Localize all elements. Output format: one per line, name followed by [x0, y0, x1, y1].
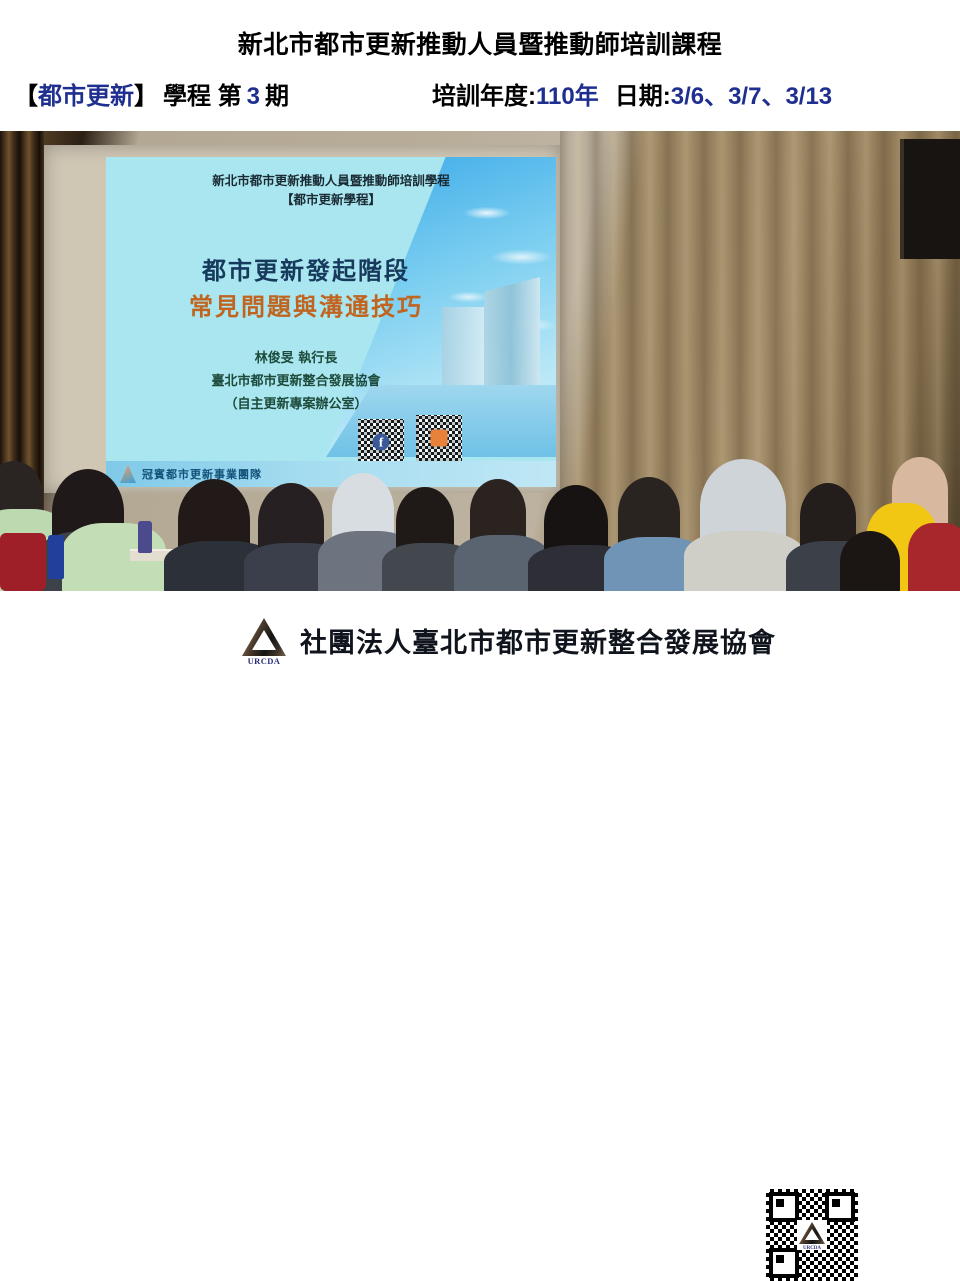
slide-main-title: 都市更新發起階段 常見問題與溝通技巧: [106, 253, 506, 325]
slide-speaker-block: 林俊旻 執行長 臺北市都市更新整合發展協會 （自主更新專案辦公室）: [106, 347, 486, 416]
subheader-row: 【都市更新】學程 第3期 培訓年度:110年日期:3/6、3/7、3/13: [0, 78, 960, 118]
qr-logo-abbrev-label: URCDA: [797, 1246, 827, 1251]
slide-footer-logo-icon: [120, 465, 136, 483]
program-label: 學程 第: [163, 83, 242, 110]
logo-abbrev-label: URCDA: [240, 656, 288, 666]
slide-speaker-name: 林俊旻 執行長: [106, 347, 486, 370]
date-value: 3/6、3/7、3/13: [671, 83, 832, 110]
session-number: 3: [247, 83, 260, 110]
footer-qr-code[interactable]: URCDA: [766, 1189, 858, 1281]
slide-secondary-qr-code: [416, 415, 462, 461]
bracket-close: 】: [134, 83, 158, 110]
wall-picture-frame: [900, 139, 960, 259]
footer-banner: URCDA 社團法人臺北市都市更新整合發展協會 URCDA: [0, 591, 960, 720]
water-bottle: [138, 521, 152, 553]
period-label: 期: [265, 83, 289, 110]
audience-chair: [0, 533, 46, 591]
qr-finder-top-right: [825, 1192, 855, 1222]
water-bottle: [48, 535, 64, 579]
page-title: 新北市都市更新推動人員暨推動師培訓課程: [0, 30, 960, 60]
presentation-slide: 新北市都市更新推動人員暨推動師培訓學程 【都市更新學程】 都市更新發起階段 常見…: [106, 157, 556, 487]
qr-finder-top-left: [769, 1192, 799, 1222]
header-banner: 新北市都市更新推動人員暨推動師培訓課程 【都市更新】學程 第3期 培訓年度:11…: [0, 0, 960, 131]
organization-name: 社團法人臺北市都市更新整合發展協會: [300, 621, 776, 660]
slide-header-text: 新北市都市更新推動人員暨推動師培訓學程 【都市更新學程】: [106, 157, 556, 209]
program-name: 都市更新: [38, 83, 134, 110]
projection-screen: 新北市都市更新推動人員暨推動師培訓學程 【都市更新學程】 都市更新發起階段 常見…: [44, 145, 560, 493]
slide-header-line-1: 新北市都市更新推動人員暨推動師培訓學程: [106, 171, 556, 190]
qr-finder-bottom-left: [769, 1248, 799, 1278]
lecture-hall-photo: 新北市都市更新推動人員暨推動師培訓學程 【都市更新學程】 都市更新發起階段 常見…: [0, 131, 960, 591]
qr-center-logo-icon: URCDA: [797, 1220, 827, 1250]
organization-block: URCDA 社團法人臺北市都市更新整合發展協會: [240, 616, 776, 664]
audience-member: [840, 531, 900, 591]
urcda-logo-icon: URCDA: [240, 616, 288, 664]
slide-facebook-qr-code: f: [358, 419, 404, 465]
program-line: 【都市更新】學程 第3期: [14, 78, 289, 116]
slide-title-line-1: 都市更新發起階段: [106, 253, 506, 289]
line-icon: [431, 430, 448, 447]
schedule-line: 培訓年度:110年日期:3/6、3/7、3/13: [432, 78, 832, 116]
training-year-value: 110年: [536, 83, 599, 110]
slide-title-line-2: 常見問題與溝通技巧: [106, 289, 506, 325]
slide-speaker-office: （自主更新專案辦公室）: [106, 393, 486, 416]
slide-header-line-2: 【都市更新學程】: [106, 190, 556, 209]
bracket-open: 【: [14, 83, 38, 110]
slide-speaker-org: 臺北市都市更新整合發展協會: [106, 370, 486, 393]
slide-footer-brand: 冠賓都市更新事業團隊: [142, 466, 262, 482]
training-year-label: 培訓年度:: [432, 83, 536, 110]
date-label: 日期:: [615, 83, 671, 110]
facebook-icon: f: [373, 434, 390, 451]
audience-member: [908, 523, 960, 591]
